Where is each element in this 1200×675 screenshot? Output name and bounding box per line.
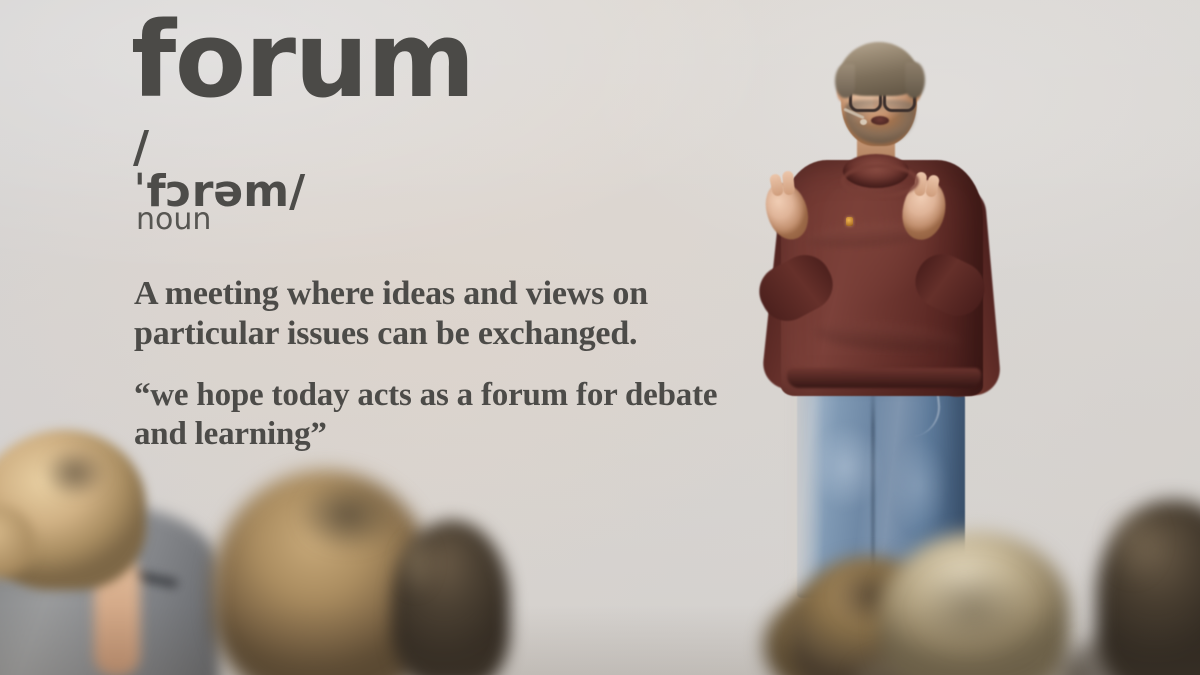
sweater-collar-rim [841, 164, 919, 198]
speaker-figure [745, 28, 1065, 588]
speaker-mouth [871, 116, 889, 125]
dictionary-definition-graphic: forum /ˈfɔrəm/ noun A meeting where idea… [0, 0, 1200, 675]
headset-microphone-capsule [860, 119, 867, 125]
sweater-hem [787, 368, 981, 388]
jeans-edge-blend [789, 376, 823, 596]
lapel-pin-icon [846, 217, 853, 226]
example-quote: “we hope today acts as a forum for debat… [134, 376, 734, 454]
part-of-speech: noun [136, 205, 211, 235]
phonetic-transcription: /ˈfɔrəm/ [133, 126, 305, 214]
jeans-fade-right [891, 438, 947, 534]
headword: forum [131, 8, 474, 112]
definition-text: A meeting where ideas and views on parti… [134, 274, 754, 354]
speaker-hair-right-side [905, 62, 925, 98]
speaker-hair-left-side [835, 64, 855, 98]
left-hand-finger-2 [782, 171, 795, 196]
